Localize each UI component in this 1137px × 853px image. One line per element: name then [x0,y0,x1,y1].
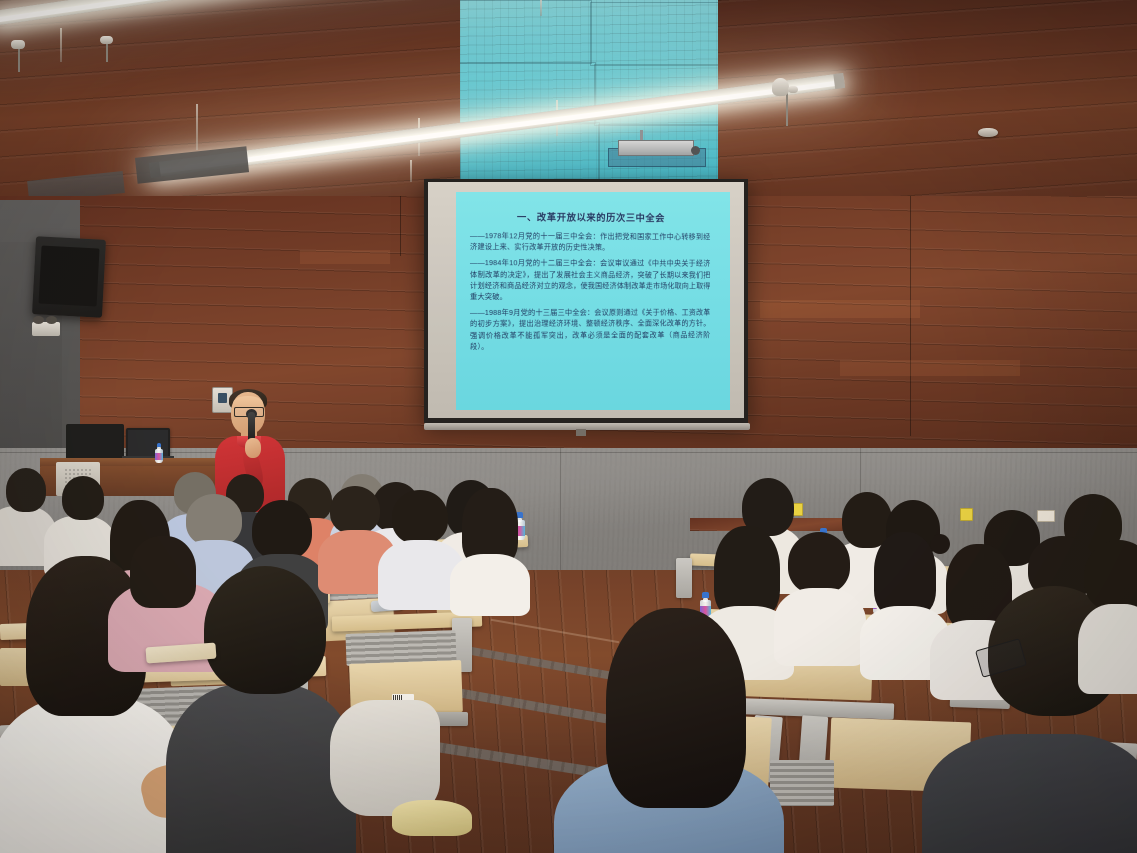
ceiling-spotlight-head [788,86,798,93]
attendee-torso [1078,604,1137,694]
screen-bracket [576,429,586,436]
emergency-lamp [33,316,44,324]
light-suspension-rod [60,28,62,62]
ceiling-hook-head [11,40,25,49]
slide-paragraph: ——1988年9月党的十三届三中全会：会议原则通过《关于价格、工资改革的初步方案… [470,307,710,352]
attendee-hair [130,536,196,608]
attendee-torso [450,554,530,616]
attendee-hair [714,526,780,618]
projector-lens [691,146,700,155]
ceiling-tile [452,0,592,64]
attendee-hair [874,532,936,616]
attendee-hair [6,468,46,512]
ceiling-tile [590,2,726,66]
attendee-hair [392,490,448,544]
ceiling-projector [618,140,694,156]
attendee-hair [330,486,380,534]
attendee-hair [62,476,104,520]
presenter-laptop[interactable] [126,428,170,458]
attendee-hair-bun [930,534,950,554]
wall-speaker [32,236,106,318]
ceiling-hook [18,46,20,72]
spotlight-arm [786,92,788,126]
light-endcap [833,73,845,89]
presenter-hand [245,438,261,458]
attendee-hair [186,494,242,546]
attendee-hair [606,608,746,808]
ceiling-spotlight [772,78,789,96]
water-bottle[interactable] [155,443,163,463]
attendee-torso [774,588,866,666]
light-suspension-rod [410,160,412,182]
bottle-label [155,453,163,460]
podium-monitor [66,424,124,460]
wood-highlight [300,250,390,264]
attendee-torso [166,684,356,853]
light-suspension-rod [540,0,542,16]
attendee-hair [204,566,326,694]
attendee-torso [922,734,1137,853]
projected-slide: 一、改革开放以来的历次三中全会 ——1978年12月党的十一届三中全会：作出把党… [456,192,730,410]
slide-title: 一、改革开放以来的历次三中全会 [470,209,710,224]
seat-frame [676,558,692,598]
wood-highlight [760,300,920,318]
projection-screen-bottom-bar[interactable] [424,423,750,430]
wall-outlet[interactable] [1037,510,1055,522]
attendee-leg [330,700,440,816]
emergency-lamp [46,316,57,324]
attendee-hair [788,532,850,594]
wall-outlet[interactable] [960,508,973,521]
lecture-hall-photo: 一、改革开放以来的历次三中全会 ——1978年12月党的十一届三中全会：作出把党… [0,0,1137,853]
ceiling-hook-head [100,36,113,44]
smoke-detector-icon [978,128,998,137]
wood-highlight [840,360,1020,376]
light-suspension-rod [196,104,198,150]
slide-paragraph: ——1984年10月党的十二届三中全会：会议审议通过《中共中央关于经济体制改革的… [470,257,710,302]
attendee-shoe [392,800,472,836]
seat-back-slats [770,760,834,806]
slide-paragraph: ——1978年12月党的十一届三中全会：作出把党和国家工作中心转移到经济建设上来… [470,230,710,253]
wood-panel-seam [400,196,401,256]
wall-seam [0,452,1137,453]
attendee-hair [252,500,312,560]
emergency-light [32,322,60,336]
ceiling-beam-right [718,0,1137,200]
speaker-grill [39,246,99,307]
wall-seam [560,448,561,578]
